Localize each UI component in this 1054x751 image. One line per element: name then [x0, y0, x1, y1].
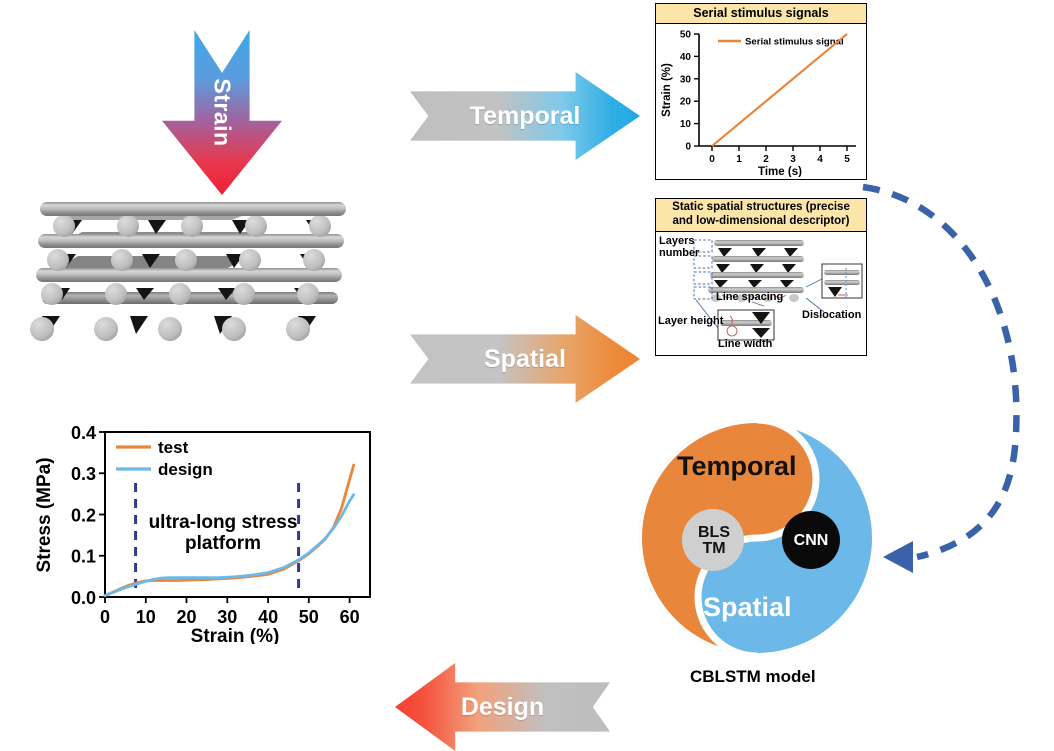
cblstm-yinyang-diagram: Temporal Spatial BLS TM CNN	[625, 418, 890, 658]
stress-strain-chart: 0.0 0.1 0.2 0.3 0.4 0 10 20 30 40 50 60 …	[30, 412, 380, 644]
svg-text:0: 0	[685, 141, 691, 152]
svg-text:Serial stimulus signal: Serial stimulus signal	[745, 36, 844, 47]
spatial-panel: Static spatial structures (precise and l…	[655, 198, 867, 356]
spatial-header-line1: Static spatial structures (precise	[660, 201, 862, 215]
svg-text:50: 50	[680, 29, 692, 40]
lattice-structure	[18, 196, 358, 356]
yinyang-temporal-label: Temporal	[677, 451, 797, 482]
temporal-flow-arrow: Temporal	[410, 72, 640, 160]
svg-text:60: 60	[340, 607, 360, 627]
svg-text:20: 20	[680, 96, 692, 107]
label-line-width: Line width	[718, 339, 772, 351]
svg-text:3: 3	[790, 154, 796, 165]
label-line-spacing: Line spacing	[716, 292, 783, 304]
svg-text:Time (s): Time (s)	[758, 166, 802, 177]
svg-text:0.3: 0.3	[71, 464, 96, 484]
svg-text:0.2: 0.2	[71, 505, 96, 525]
svg-text:0.1: 0.1	[71, 547, 96, 567]
cblstm-model-caption: CBLSTM model	[690, 667, 816, 687]
svg-text:0: 0	[709, 154, 715, 165]
svg-text:Strain (%): Strain (%)	[191, 626, 280, 644]
svg-text:30: 30	[217, 607, 237, 627]
lattice-svg	[18, 196, 358, 356]
blstm-node-label: BLS TM	[685, 512, 743, 570]
yinyang-spatial-label: Spatial	[703, 592, 792, 623]
svg-text:0.0: 0.0	[71, 588, 96, 608]
label-layer-height: Layer height	[658, 316, 723, 328]
stress-platform-annotation: ultra-long stress platform	[138, 512, 308, 555]
strain-arrow-label: Strain	[140, 53, 305, 173]
spatial-flow-arrow: Spatial	[410, 315, 640, 403]
svg-text:20: 20	[176, 607, 196, 627]
svg-text:50: 50	[299, 607, 319, 627]
svg-text:10: 10	[136, 607, 156, 627]
cnn-node-label: CNN	[784, 514, 838, 568]
label-layers-number: Layers number	[659, 236, 699, 260]
svg-text:40: 40	[258, 607, 278, 627]
layers-number-line1: Layers	[659, 235, 694, 247]
blstm-line2: TM	[702, 541, 725, 557]
serial-stimulus-svg: 0 10 20 30 40 50 0 1 2 3 4	[656, 24, 865, 177]
serial-stimulus-chart: 0 10 20 30 40 50 0 1 2 3 4	[656, 24, 866, 179]
svg-text:5: 5	[844, 154, 850, 165]
strain-arrow: Strain	[162, 30, 282, 195]
svg-text:40: 40	[680, 52, 692, 63]
svg-text:2: 2	[763, 154, 769, 165]
svg-text:4: 4	[817, 154, 823, 165]
design-arrow-label: Design	[395, 663, 610, 751]
series-serial-stimulus-signal	[712, 34, 847, 146]
svg-text:design: design	[158, 460, 213, 479]
layers-number-line2: number	[659, 247, 699, 259]
svg-text:Stress (MPa): Stress (MPa)	[34, 457, 55, 572]
svg-text:30: 30	[680, 74, 692, 85]
temporal-arrow-label: Temporal	[410, 72, 640, 160]
spatial-descriptor-diagram: Layers number Line spacing Layer height …	[656, 232, 866, 354]
temporal-panel: Serial stimulus signals 0 10 20 30 40 50	[655, 3, 867, 180]
spatial-panel-header: Static spatial structures (precise and l…	[656, 199, 866, 232]
svg-text:test: test	[158, 438, 189, 457]
spatial-arrow-label: Spatial	[410, 315, 640, 403]
design-flow-arrow: Design	[395, 663, 610, 751]
cnn-text: CNN	[794, 533, 829, 549]
svg-text:0: 0	[100, 607, 110, 627]
spatial-header-line2: and low-dimensional descriptor)	[660, 215, 862, 229]
blstm-line1: BLS	[698, 525, 730, 541]
svg-text:10: 10	[680, 119, 692, 130]
svg-text:1: 1	[736, 154, 742, 165]
svg-text:0.4: 0.4	[71, 423, 96, 443]
svg-text:Strain (%): Strain (%)	[661, 63, 673, 117]
temporal-panel-header: Serial stimulus signals	[656, 4, 866, 24]
